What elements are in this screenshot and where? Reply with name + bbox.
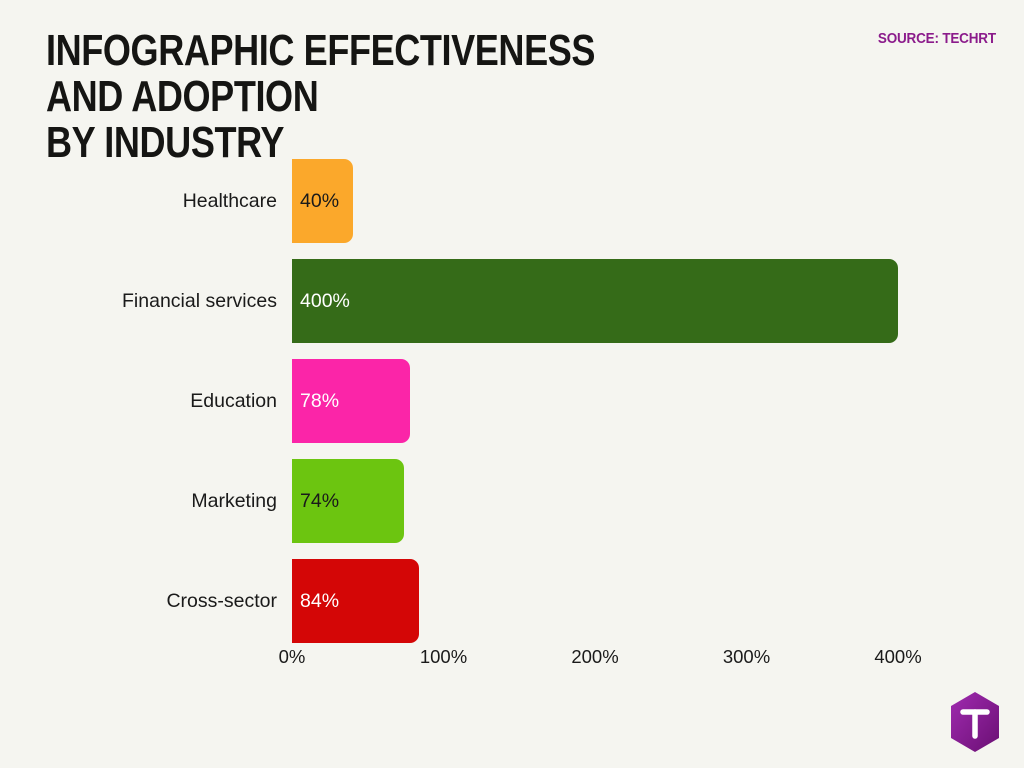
category-label: Education: [0, 359, 277, 443]
bar-marketing[interactable]: 74%: [292, 459, 404, 543]
bar-row: Education78%: [0, 359, 1024, 443]
bar-value-label: 84%: [300, 590, 339, 613]
bar-cross-sector[interactable]: 84%: [292, 559, 419, 643]
x-axis: 0%100%200%300%400%: [0, 646, 1024, 676]
bar-row: Healthcare40%: [0, 159, 1024, 243]
x-tick-label: 100%: [420, 646, 467, 668]
x-tick-label: 200%: [571, 646, 618, 668]
x-tick-label: 0%: [279, 646, 306, 668]
bar-healthcare[interactable]: 40%: [292, 159, 353, 243]
bar-value-label: 400%: [300, 290, 350, 313]
category-label: Cross-sector: [0, 559, 277, 643]
bar-financial-services[interactable]: 400%: [292, 259, 898, 343]
bar-row: Financial services400%: [0, 259, 1024, 343]
x-tick-label: 300%: [723, 646, 770, 668]
bar-row: Cross-sector84%: [0, 559, 1024, 643]
category-label: Healthcare: [0, 159, 277, 243]
bar-row: Marketing74%: [0, 459, 1024, 543]
bar-value-label: 78%: [300, 390, 339, 413]
techrt-hexagon-logo: [946, 690, 1004, 754]
header: INFOGRAPHIC EFFECTIVENESS AND ADOPTION B…: [0, 0, 1024, 140]
bar-value-label: 40%: [300, 190, 339, 213]
x-tick-label: 400%: [874, 646, 921, 668]
bar-value-label: 74%: [300, 490, 339, 513]
category-label: Marketing: [0, 459, 277, 543]
bar-education[interactable]: 78%: [292, 359, 410, 443]
source-attribution: SOURCE: TECHRT: [878, 31, 996, 47]
bar-chart-plot-area: Healthcare40%Financial services400%Educa…: [0, 140, 1024, 700]
category-label: Financial services: [0, 259, 277, 343]
